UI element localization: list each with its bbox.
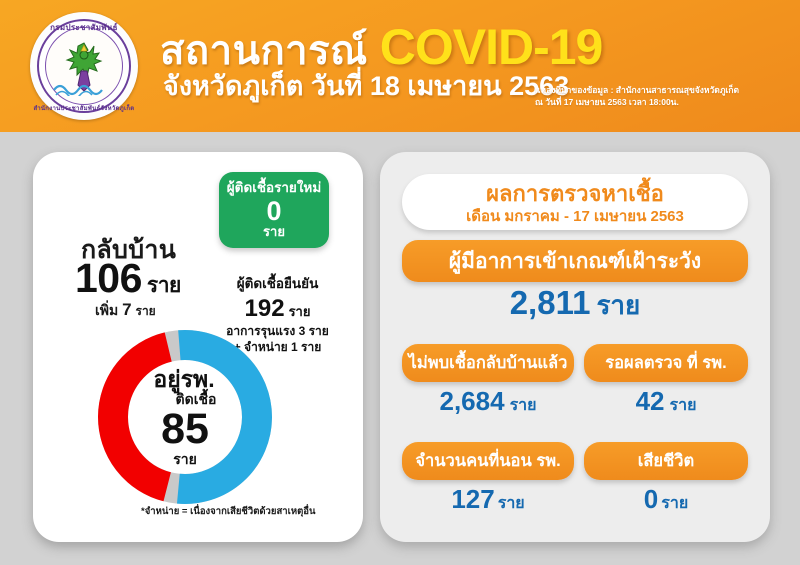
page-subtitle: จังหวัดภูเก็ต วันที่ 18 เมษายน 2563 bbox=[163, 73, 569, 100]
recovered-value-group: 106ราย bbox=[75, 255, 181, 302]
confirmed-label: ผู้ติดเชื้อยืนยัน bbox=[215, 272, 340, 294]
stat-unit-deaths: ราย bbox=[661, 495, 688, 512]
stat-value-no-infection-group: 2,684ราย bbox=[402, 388, 574, 414]
recovered-added-group: เพิ่ม 7 ราย bbox=[95, 300, 156, 322]
recovered-added-unit: ราย bbox=[136, 304, 156, 318]
stat-value-awaiting-results: 42 bbox=[636, 386, 665, 416]
case-summary-card: กลับบ้าน 106ราย เพิ่ม 7 ราย ผู้ติดเชื้อร… bbox=[33, 152, 363, 542]
donut-svg bbox=[90, 322, 280, 512]
infographic-page: กรมประชาสัมพันธ์ สำนักงานประชาสัมพันธ์จั… bbox=[0, 0, 800, 565]
new-cases-value: 0 bbox=[219, 197, 329, 225]
testing-results-card: ผลการตรวจหาเชื้อ เดือน มกราคม - 17 เมษาย… bbox=[380, 152, 770, 542]
stat-value-hospitalized: 127 bbox=[451, 484, 494, 514]
agency-logo: กรมประชาสัมพันธ์ สำนักงานประชาสัมพันธ์จั… bbox=[30, 12, 138, 120]
new-cases-badge: ผู้ติดเชื้อรายใหม่ 0 ราย bbox=[219, 172, 329, 248]
new-cases-label: ผู้ติดเชื้อรายใหม่ bbox=[219, 181, 329, 196]
testing-results-subtitle: เดือน มกราคม - 17 เมษายน 2563 bbox=[402, 209, 748, 224]
stat-value-deaths-group: 0ราย bbox=[584, 486, 748, 512]
stat-label-deaths: เสียชีวิต bbox=[584, 442, 748, 480]
watch-criteria-value-group: 2,811ราย bbox=[402, 286, 748, 319]
page-title-thai: สถานการณ์ bbox=[160, 29, 368, 73]
new-cases-unit: ราย bbox=[219, 225, 329, 238]
stat-label-no-infection: ไม่พบเชื้อกลับบ้านแล้ว bbox=[402, 344, 574, 382]
stat-value-no-infection: 2,684 bbox=[439, 386, 504, 416]
confirmed-value: 192 bbox=[245, 295, 285, 322]
testing-results-title: ผลการตรวจหาเชื้อ bbox=[402, 183, 748, 205]
stat-unit-no-infection: ราย bbox=[510, 397, 537, 414]
data-source-line1: แหล่งที่มาของข้อมูล : สำนักงานสาธารณสุขจ… bbox=[535, 84, 739, 96]
page-title: สถานการณ์COVID-19 bbox=[160, 22, 602, 72]
confirmed-value-group: 192ราย bbox=[215, 295, 340, 323]
logo-top-text: กรมประชาสัมพันธ์ bbox=[30, 21, 138, 34]
watch-criteria-pill: ผู้มีอาการเข้าเกณฑ์เฝ้าระวัง bbox=[402, 240, 748, 282]
card-footnote: *จำหน่าย = เนื่องจากเสียชีวิตด้วยสาเหตุอ… bbox=[141, 504, 315, 519]
recovered-added-prefix: เพิ่ม bbox=[95, 302, 118, 318]
recovered-unit: ราย bbox=[147, 274, 181, 297]
stat-value-hospitalized-group: 127ราย bbox=[402, 486, 574, 512]
data-source-line2: ณ วันที่ 17 เมษายน 2563 เวลา 18:00น. bbox=[535, 96, 739, 108]
confirmed-unit: ราย bbox=[289, 304, 311, 319]
stat-value-awaiting-results-group: 42ราย bbox=[584, 388, 748, 414]
case-donut-chart: อยู่รพ. ติดเชื้อ 85 ราย bbox=[90, 322, 280, 512]
page-title-covid: COVID-19 bbox=[380, 19, 603, 75]
donut-segment bbox=[178, 345, 257, 489]
stat-label-awaiting-results: รอผลตรวจ ที่ รพ. bbox=[584, 344, 748, 382]
testing-results-header: ผลการตรวจหาเชื้อ เดือน มกราคม - 17 เมษาย… bbox=[402, 174, 748, 230]
watch-criteria-value: 2,811 bbox=[510, 284, 591, 321]
data-source-note: แหล่งที่มาของข้อมูล : สำนักงานสาธารณสุขจ… bbox=[535, 84, 739, 109]
recovered-value: 106 bbox=[75, 255, 142, 301]
stat-unit-hospitalized: ราย bbox=[498, 495, 525, 512]
logo-bottom-text: สำนักงานประชาสัมพันธ์จังหวัดภูเก็ต bbox=[30, 103, 138, 113]
donut-segment bbox=[113, 347, 168, 487]
recovered-added-value: 7 bbox=[122, 300, 131, 319]
stat-value-deaths: 0 bbox=[644, 484, 658, 514]
header-banner: กรมประชาสัมพันธ์ สำนักงานประชาสัมพันธ์จั… bbox=[0, 0, 800, 132]
logo-wave bbox=[52, 76, 114, 96]
stat-unit-awaiting-results: ราย bbox=[669, 397, 696, 414]
watch-criteria-unit: ราย bbox=[596, 290, 640, 320]
stat-label-hospitalized: จำนวนคนที่นอน รพ. bbox=[402, 442, 574, 480]
